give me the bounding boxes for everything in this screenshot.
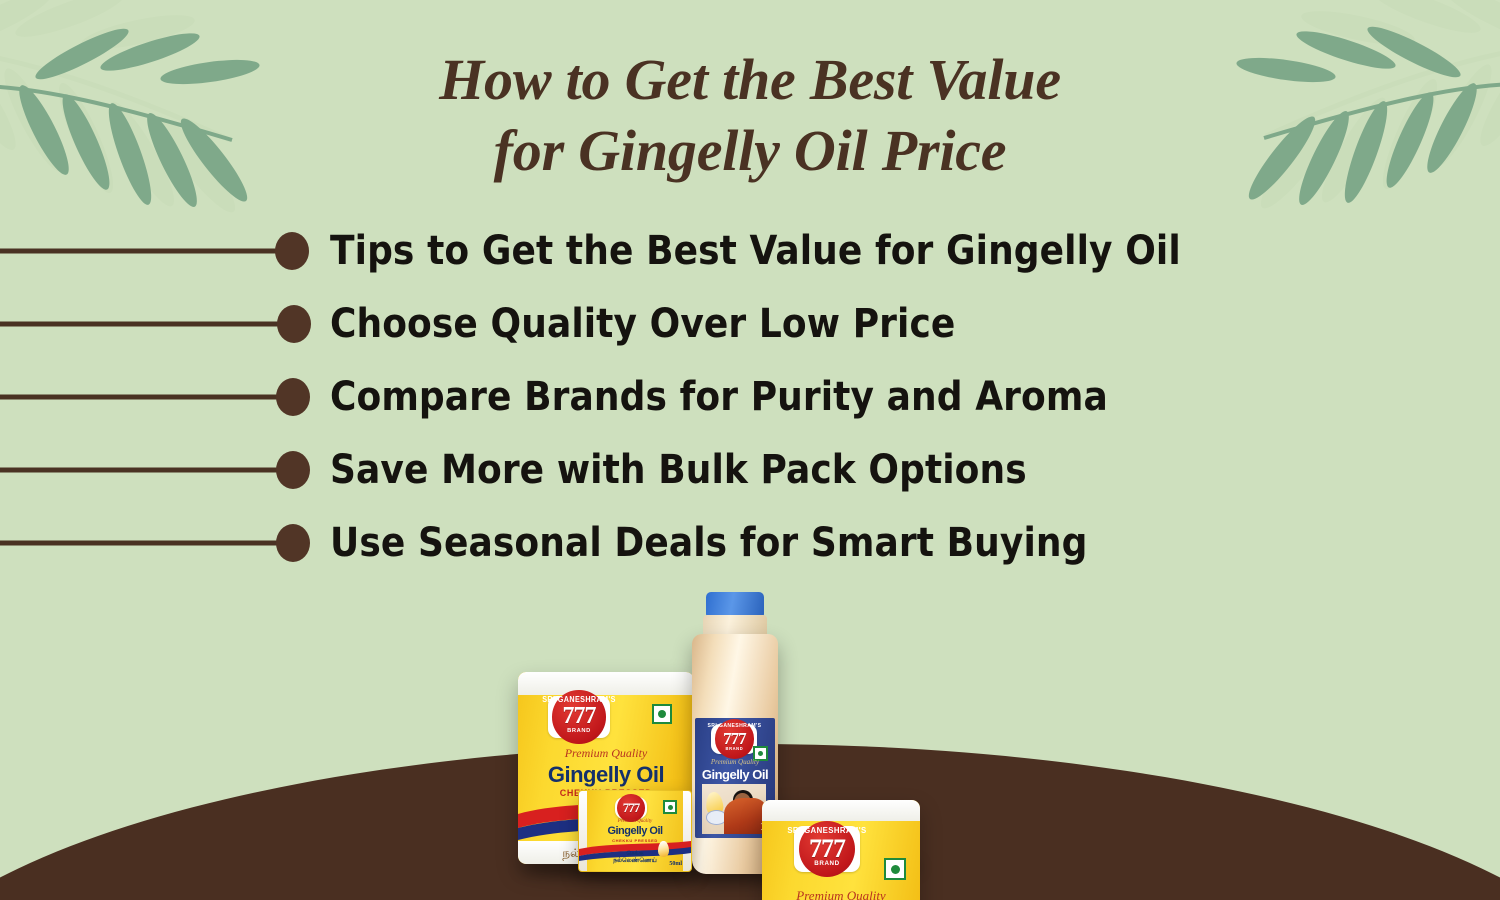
bottle-cap: [706, 592, 764, 617]
list-item-bullet-icon: [276, 524, 310, 562]
list-item-label: Compare Brands for Purity and Aroma: [330, 374, 1108, 420]
list-item-label: Tips to Get the Best Value for Gingelly …: [330, 228, 1181, 274]
infographic-canvas: How to Get the Best Value for Gingelly O…: [0, 0, 1500, 900]
pouch-seal-top: [518, 672, 694, 695]
brand-logo-777: SRI GANESHRAM'S 777 BRAND: [548, 696, 610, 738]
list-item-label: Use Seasonal Deals for Smart Buying: [330, 520, 1087, 566]
list-item[interactable]: Use Seasonal Deals for Smart Buying: [0, 506, 1300, 579]
list-item-bullet-icon: [277, 305, 311, 343]
list-item-bullet-icon: [276, 451, 310, 489]
list-item[interactable]: Choose Quality Over Low Price: [0, 287, 1300, 360]
list-item[interactable]: Save More with Bulk Pack Options: [0, 433, 1300, 506]
page-title: How to Get the Best Value for Gingelly O…: [0, 44, 1500, 187]
table-surface: [0, 744, 1500, 900]
page-title-line-2: for Gingelly Oil Price: [0, 115, 1500, 186]
list-item[interactable]: Compare Brands for Purity and Aroma: [0, 360, 1300, 433]
tips-list: Tips to Get the Best Value for Gingelly …: [0, 214, 1300, 579]
list-item-label: Choose Quality Over Low Price: [330, 301, 955, 347]
list-item-label: Save More with Bulk Pack Options: [330, 447, 1027, 493]
logo-arc-top-text: SRI GANESHRAM'S: [707, 722, 761, 729]
list-item-rule: [0, 248, 282, 253]
bottle-neck: [703, 615, 767, 640]
list-item-rule: [0, 467, 286, 472]
list-item-rule: [0, 394, 286, 399]
logo-arc-top-text: SRI GANESHRAM'S: [542, 695, 616, 705]
list-item-bullet-icon: [275, 232, 309, 270]
vegetarian-mark-icon: [652, 704, 672, 724]
list-item-rule: [0, 540, 286, 545]
logo-arc-bottom-text: BRAND: [567, 728, 591, 734]
logo-number-text: 777: [563, 706, 596, 728]
list-item-rule: [0, 321, 288, 326]
list-item-bullet-icon: [276, 378, 310, 416]
list-item[interactable]: Tips to Get the Best Value for Gingelly …: [0, 214, 1300, 287]
page-title-line-1: How to Get the Best Value: [439, 47, 1061, 112]
